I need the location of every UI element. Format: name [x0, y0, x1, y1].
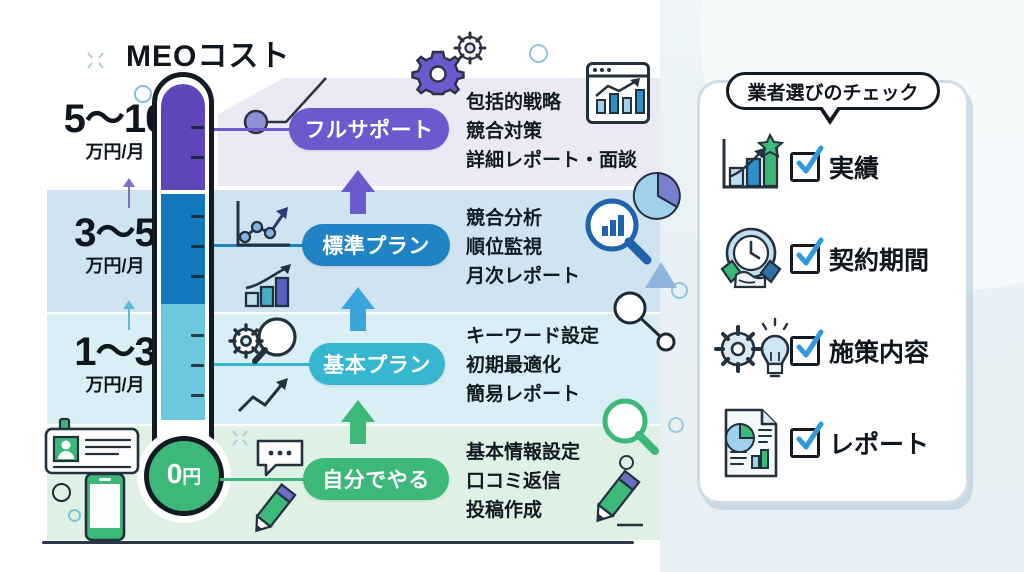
magnifier-icon	[600, 396, 662, 458]
node-link-icon	[612, 290, 678, 354]
tier-up-arrow-basic-to-standard	[341, 287, 375, 331]
thermometer-segment-full	[161, 84, 205, 190]
gear-bulb-icon	[712, 315, 790, 387]
plan-pill-basic[interactable]: 基本プラン	[309, 343, 445, 385]
checkbox-report[interactable]	[790, 428, 820, 458]
bar-chart-star-icon	[712, 131, 790, 203]
pie-chart-icon	[632, 170, 684, 222]
thermometer-fill	[161, 84, 205, 432]
gear-magnifier-icon	[228, 313, 302, 371]
checklist-title-tail-inner	[821, 105, 839, 118]
ring-deco-4	[668, 417, 684, 433]
sparkle-icon-bulb	[233, 430, 251, 448]
ring-deco-2	[529, 44, 548, 63]
thermometer-tick	[191, 126, 204, 129]
thermometer-tick	[191, 364, 204, 367]
sparkle-icon-top	[88, 52, 106, 70]
plan-pill-self[interactable]: 自分でやる	[303, 458, 449, 500]
pencil-icon	[246, 482, 298, 538]
baseline-rule	[42, 541, 634, 544]
plan-pill-standard[interactable]: 標準プラン	[302, 224, 450, 266]
tier-up-arrow-standard-to-full	[341, 170, 375, 214]
checklist-label: 契約期間	[829, 241, 929, 277]
line-chart-icon	[232, 197, 296, 255]
gear-small-icon	[452, 30, 488, 66]
thermometer-tick	[191, 156, 204, 159]
checkbox-measures[interactable]	[790, 336, 820, 366]
connector-full	[214, 128, 294, 131]
speech-bubble-icon	[255, 438, 305, 480]
checklist-item-contract-period[interactable]: 契約期間	[712, 222, 962, 296]
ring-deco-5	[68, 509, 81, 522]
thermometer-segment-standard	[161, 194, 205, 304]
clock-handshake-icon	[712, 223, 790, 295]
thermometer-tick	[191, 275, 204, 278]
plan-pill-full[interactable]: フルサポート	[289, 108, 449, 150]
bulb-value: 0円	[167, 460, 202, 492]
infographic-canvas: MEOコスト 5〜10 万円/月 3〜5 万円/月 1〜3 万円/月	[0, 0, 1024, 572]
pencil-icon-right	[586, 468, 646, 532]
trend-arrow-icon	[235, 375, 293, 417]
features-basic: キーワード設定 初期最適化 簡易レポート	[466, 322, 599, 409]
checkbox-contract-period[interactable]	[790, 244, 820, 274]
dot-deco-dark	[52, 483, 71, 502]
features-self: 基本情報設定 口コミ返信 投稿作成	[466, 438, 580, 525]
thermometer-tick	[191, 245, 204, 248]
thermometer-segment-basic	[161, 304, 205, 432]
thermometer-tick	[191, 334, 204, 337]
checklist-label: 実績	[829, 149, 879, 185]
thermometer-tick	[191, 394, 204, 397]
id-card-icon	[44, 417, 140, 479]
thermometer-bulb: 0円	[144, 436, 224, 516]
checklist-item-achievements[interactable]: 実績	[712, 130, 962, 204]
checklist-item-report[interactable]: レポート	[712, 406, 962, 480]
features-standard: 競合分析 順位監視 月次レポート	[466, 204, 580, 291]
report-document-icon	[712, 407, 790, 479]
price-up-arrow-2	[128, 300, 130, 330]
smartphone-icon	[84, 472, 126, 542]
checkbox-achievements[interactable]	[790, 152, 820, 182]
dashboard-chart-icon	[586, 62, 650, 124]
tier-up-arrow-self-to-basic	[341, 400, 375, 444]
thermometer-tick	[191, 215, 204, 218]
bar-growth-icon	[242, 262, 300, 310]
checklist-label: レポート	[829, 425, 929, 461]
checklist-label: 施策内容	[829, 333, 929, 369]
checklist-item-measures[interactable]: 施策内容	[712, 314, 962, 388]
price-up-arrow-1	[128, 178, 130, 208]
